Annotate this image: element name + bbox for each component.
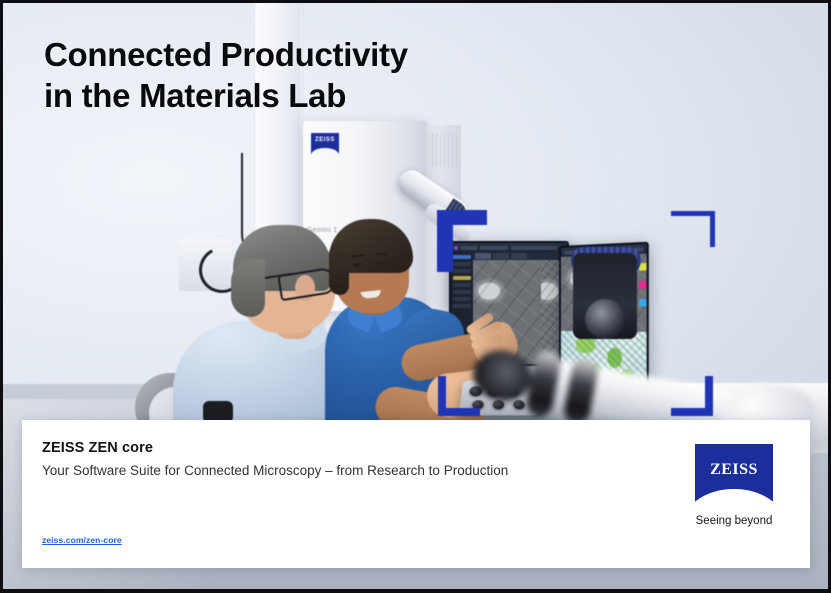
zeiss-logo-icon: ZEISS xyxy=(695,444,773,506)
zeiss-wordmark: ZEISS xyxy=(695,461,773,479)
slide-canvas: ZEISS Gemini 1 xyxy=(0,0,831,593)
bracket-arm-vertical xyxy=(710,211,715,247)
instrument-logo-text: ZEISS xyxy=(311,137,339,143)
vent-grille xyxy=(432,133,457,167)
bracket-arm-vertical xyxy=(438,376,446,416)
titlebar-chip xyxy=(511,246,557,250)
headline-line-1: Connected Productivity xyxy=(44,35,408,76)
channel-swatch-cyan xyxy=(639,299,647,306)
bracket-top-right xyxy=(671,211,715,247)
bracket-arm-vertical xyxy=(437,210,453,272)
objective-lens xyxy=(585,299,625,339)
slide-inner: ZEISS Gemini 1 xyxy=(3,3,828,589)
bracket-bottom-right xyxy=(671,376,713,416)
product-name: ZEISS ZEN core xyxy=(42,440,508,456)
sidebar-row xyxy=(453,276,471,280)
bracket-top-left xyxy=(437,210,487,272)
person-woman-eye xyxy=(353,263,361,267)
person-woman-hair-side xyxy=(329,243,349,295)
bracket-bottom-left xyxy=(438,376,480,416)
person-man-hair-side xyxy=(231,259,265,317)
page-title: Connected Productivity in the Materials … xyxy=(44,35,408,117)
headline-line-2: in the Materials Lab xyxy=(44,76,408,117)
bracket-arm-vertical xyxy=(705,376,713,416)
product-tagline: Your Software Suite for Connected Micros… xyxy=(42,463,508,478)
viewport-tabs xyxy=(473,252,567,260)
sidebar-row xyxy=(453,283,471,287)
brand-tagline: Seeing beyond xyxy=(678,515,790,527)
bracket-arm-horizontal xyxy=(671,211,715,216)
panel-text-block: ZEISS ZEN core Your Software Suite for C… xyxy=(42,440,508,478)
sidebar-row xyxy=(453,304,471,308)
product-info-panel: ZEISS ZEN core Your Software Suite for C… xyxy=(22,420,810,568)
person-woman-eye xyxy=(377,261,385,265)
channel-swatch-magenta xyxy=(639,281,647,289)
sidebar-row xyxy=(453,297,471,301)
product-url-link[interactable]: zeiss.com/zen-core xyxy=(42,535,122,545)
instrument-zeiss-logo-icon: ZEISS xyxy=(311,133,339,155)
viewport-tab xyxy=(493,253,509,259)
sidebar-row xyxy=(453,290,471,294)
brand-logo-block: ZEISS Seeing beyond xyxy=(678,444,790,527)
zeiss-logo-arc xyxy=(695,489,773,506)
viewport-tab xyxy=(511,253,527,259)
channel-color-strip xyxy=(639,263,647,306)
